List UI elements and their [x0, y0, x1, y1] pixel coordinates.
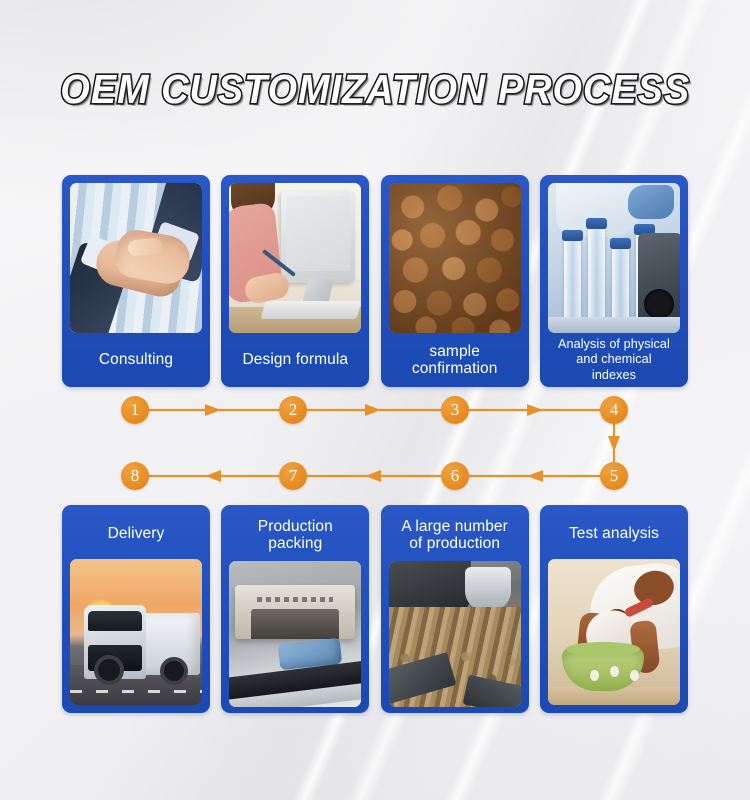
arrow-down-4-5 — [608, 436, 620, 452]
consulting-label: Consulting — [62, 333, 210, 387]
flow-step-6[interactable]: 6 — [441, 462, 469, 490]
flow-step-7[interactable]: 7 — [279, 462, 307, 490]
flow-connectors — [0, 386, 750, 498]
arrow-right-3-4 — [527, 404, 543, 416]
process-row-bottom: Delivery Productionpacking A large numbe… — [62, 505, 688, 713]
flow-step-3[interactable]: 3 — [441, 396, 469, 424]
flow-step-1[interactable]: 1 — [121, 396, 149, 424]
arrow-left-5-6 — [527, 470, 543, 482]
page-title: OEM CUSTOMIZATION PROCESS — [60, 66, 690, 113]
production-packing-image — [229, 561, 361, 707]
process-card-large-production[interactable]: A large numberof production — [381, 505, 529, 713]
process-card-analysis-indexes[interactable]: Analysis of physicaland chemicalindexes — [540, 175, 688, 387]
dog-eating-from-bowl-photo — [548, 559, 680, 705]
handshake-photo — [70, 183, 202, 333]
test-analysis-label: Test analysis — [540, 509, 688, 559]
design-formula-image — [229, 183, 361, 333]
process-card-test-analysis[interactable]: Test analysis — [540, 505, 688, 713]
flow-step-4[interactable]: 4 — [600, 396, 628, 424]
sample-confirmation-image — [389, 183, 521, 333]
kibble-production-line-photo — [389, 561, 521, 707]
flow-step-8[interactable]: 8 — [121, 462, 149, 490]
page-title-wrap: OEM CUSTOMIZATION PROCESS — [0, 66, 750, 113]
arrow-right-1-2 — [205, 404, 221, 416]
laboratory-test-tubes-photo — [548, 183, 680, 333]
flow-step-2[interactable]: 2 — [279, 396, 307, 424]
flow-arrowheads — [205, 404, 620, 482]
pet-food-kibble-photo — [389, 183, 521, 333]
test-analysis-image — [548, 559, 680, 705]
analysis-indexes-image — [548, 183, 680, 333]
arrow-left-6-7 — [365, 470, 381, 482]
production-packing-label: Productionpacking — [221, 509, 369, 561]
process-card-design-formula[interactable]: Design formula — [221, 175, 369, 387]
process-card-consulting[interactable]: Consulting — [62, 175, 210, 387]
process-card-sample-confirmation[interactable]: sampleconfirmation — [381, 175, 529, 387]
consulting-image — [70, 183, 202, 333]
sample-confirmation-label: sampleconfirmation — [381, 333, 529, 387]
large-production-label: A large numberof production — [381, 509, 529, 561]
metal-detector-conveyor-photo — [229, 561, 361, 707]
arrow-right-2-3 — [365, 404, 381, 416]
process-row-top: Consulting Design formula sampleconfirma… — [62, 175, 688, 387]
flow-step-5[interactable]: 5 — [600, 462, 628, 490]
process-card-production-packing[interactable]: Productionpacking — [221, 505, 369, 713]
design-formula-label: Design formula — [221, 333, 369, 387]
large-production-image — [389, 561, 521, 707]
infographic-page: OEM CUSTOMIZATION PROCESS Consulting Des… — [0, 0, 750, 800]
delivery-truck-photo — [70, 559, 202, 705]
analysis-indexes-label: Analysis of physicaland chemicalindexes — [540, 333, 688, 387]
delivery-label: Delivery — [62, 509, 210, 559]
delivery-image — [70, 559, 202, 705]
designer-at-computer-photo — [229, 183, 361, 333]
arrow-left-7-8 — [205, 470, 221, 482]
process-flow-diagram: 1 2 3 4 8 7 6 5 — [0, 386, 750, 498]
process-card-delivery[interactable]: Delivery — [62, 505, 210, 713]
